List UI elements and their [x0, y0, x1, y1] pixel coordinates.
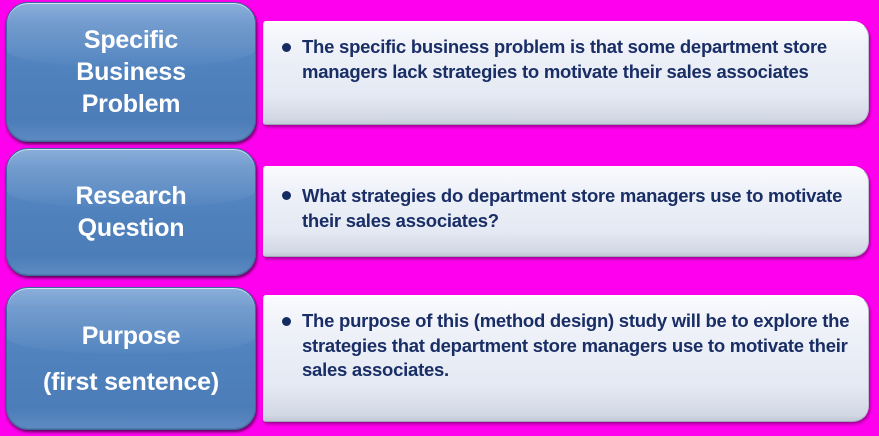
label-box-specific-business-problem[interactable]: Specific Business Problem: [6, 2, 256, 142]
bullet-point-icon: [282, 43, 291, 52]
label-line: (first sentence): [43, 366, 219, 398]
label-line: Problem: [82, 88, 181, 120]
bullet-text: The specific business problem is that so…: [302, 35, 852, 84]
label-line: Research: [76, 180, 187, 212]
diagram-row-specific-business-problem: Specific Business Problem The specific b…: [0, 2, 879, 142]
diagram-row-research-question: Research Question What strategies do dep…: [0, 148, 879, 276]
list-item: The purpose of this (method design) stud…: [278, 309, 852, 383]
label-line: Purpose: [82, 320, 181, 352]
label-box-purpose[interactable]: Purpose (first sentence): [6, 287, 256, 430]
bullet-point-icon: [282, 317, 291, 326]
diagram-row-purpose: Purpose (first sentence) The purpose of …: [0, 287, 879, 430]
list-item: What strategies do department store mana…: [278, 184, 852, 233]
bullet-text: What strategies do department store mana…: [302, 184, 852, 233]
bullet-text: The purpose of this (method design) stud…: [302, 309, 852, 383]
label-line: Question: [78, 212, 185, 244]
content-panel-research-question[interactable]: What strategies do department store mana…: [263, 166, 869, 257]
diagram-canvas: Specific Business Problem The specific b…: [0, 0, 879, 436]
list-item: The specific business problem is that so…: [278, 35, 852, 84]
label-box-research-question[interactable]: Research Question: [6, 148, 256, 276]
bullet-point-icon: [282, 191, 291, 200]
content-panel-purpose[interactable]: The purpose of this (method design) stud…: [263, 295, 869, 422]
content-panel-specific-business-problem[interactable]: The specific business problem is that so…: [263, 21, 869, 125]
label-line: Business: [76, 56, 186, 88]
label-line: Specific: [84, 24, 178, 56]
